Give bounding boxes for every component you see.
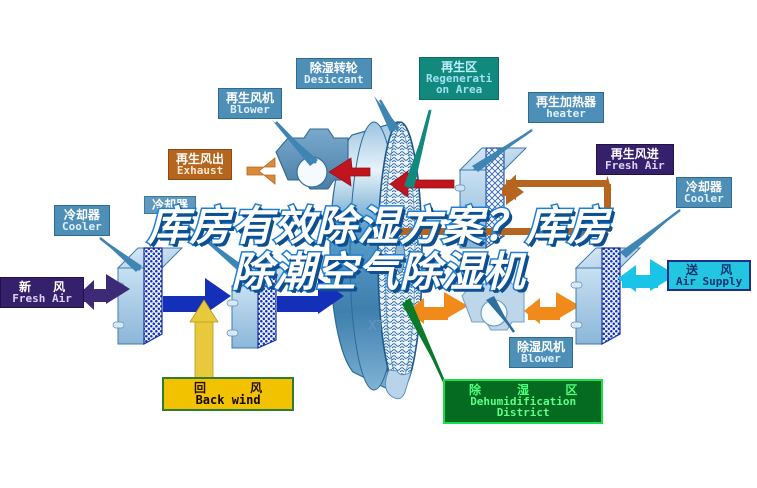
label-fresh-air[interactable]: 新 风 Fresh Air	[0, 277, 84, 308]
label-dehumidification-district-en2: District	[453, 407, 593, 418]
label-desiccant-wheel[interactable]: 除湿转轮 Desiccant	[296, 58, 372, 89]
label-cooler-left[interactable]: 冷却器 Cooler	[54, 205, 110, 236]
regen-duct-bottom	[372, 228, 608, 235]
label-cooler-left-en: Cooler	[62, 221, 102, 232]
label-regeneration-area[interactable]: 再生区 Regenerati on Area	[419, 57, 499, 100]
label-cooler-mid[interactable]: 冷却器	[144, 196, 196, 214]
process-air-arrow-1	[163, 278, 231, 314]
label-dehumidification-district[interactable]: 除 湿 区 Dehumidification District	[443, 379, 603, 424]
label-cooler-right[interactable]: 冷却器 Cooler	[676, 177, 732, 208]
label-regeneration-heater-en: heater	[536, 108, 596, 119]
label-dehumidification-blower-en: Blower	[517, 353, 565, 364]
label-dehumidification-blower[interactable]: 除湿风机 Blower	[509, 337, 573, 368]
label-regen-fresh-air[interactable]: 再生风进 Fresh Air	[596, 144, 674, 175]
label-regeneration-blower[interactable]: 再生风机 Blower	[218, 88, 282, 119]
label-regeneration-area-en2: on Area	[426, 84, 492, 95]
schematic-artwork: XT	[0, 0, 757, 488]
dry-air-arrow-2	[524, 292, 580, 324]
label-regeneration-heater[interactable]: 再生加热器 heater	[528, 92, 604, 123]
label-air-supply-en: Air Supply	[676, 276, 742, 287]
label-desiccant-wheel-en: Desiccant	[304, 74, 364, 85]
label-back-wind-en: Back wind	[174, 394, 282, 406]
label-exhaust[interactable]: 再生风出 Exhaust	[168, 149, 232, 180]
label-air-supply[interactable]: 送 风 Air Supply	[667, 260, 751, 291]
label-cooler-mid-cn: 冷却器	[152, 199, 188, 211]
label-exhaust-en: Exhaust	[176, 165, 224, 176]
label-fresh-air-en: Fresh Air	[10, 293, 74, 304]
exhaust-arrow	[247, 158, 275, 184]
label-back-wind[interactable]: 回 风 Back wind	[162, 377, 294, 411]
label-cooler-right-en: Cooler	[684, 193, 724, 204]
label-regen-fresh-air-en: Fresh Air	[605, 160, 665, 171]
diagram-canvas: XT	[0, 0, 757, 488]
svg-text:XT: XT	[368, 319, 385, 334]
cooler-unit-right	[571, 248, 640, 344]
label-regeneration-blower-en: Blower	[226, 104, 274, 115]
regen-fresh-air-arrow	[502, 175, 608, 206]
